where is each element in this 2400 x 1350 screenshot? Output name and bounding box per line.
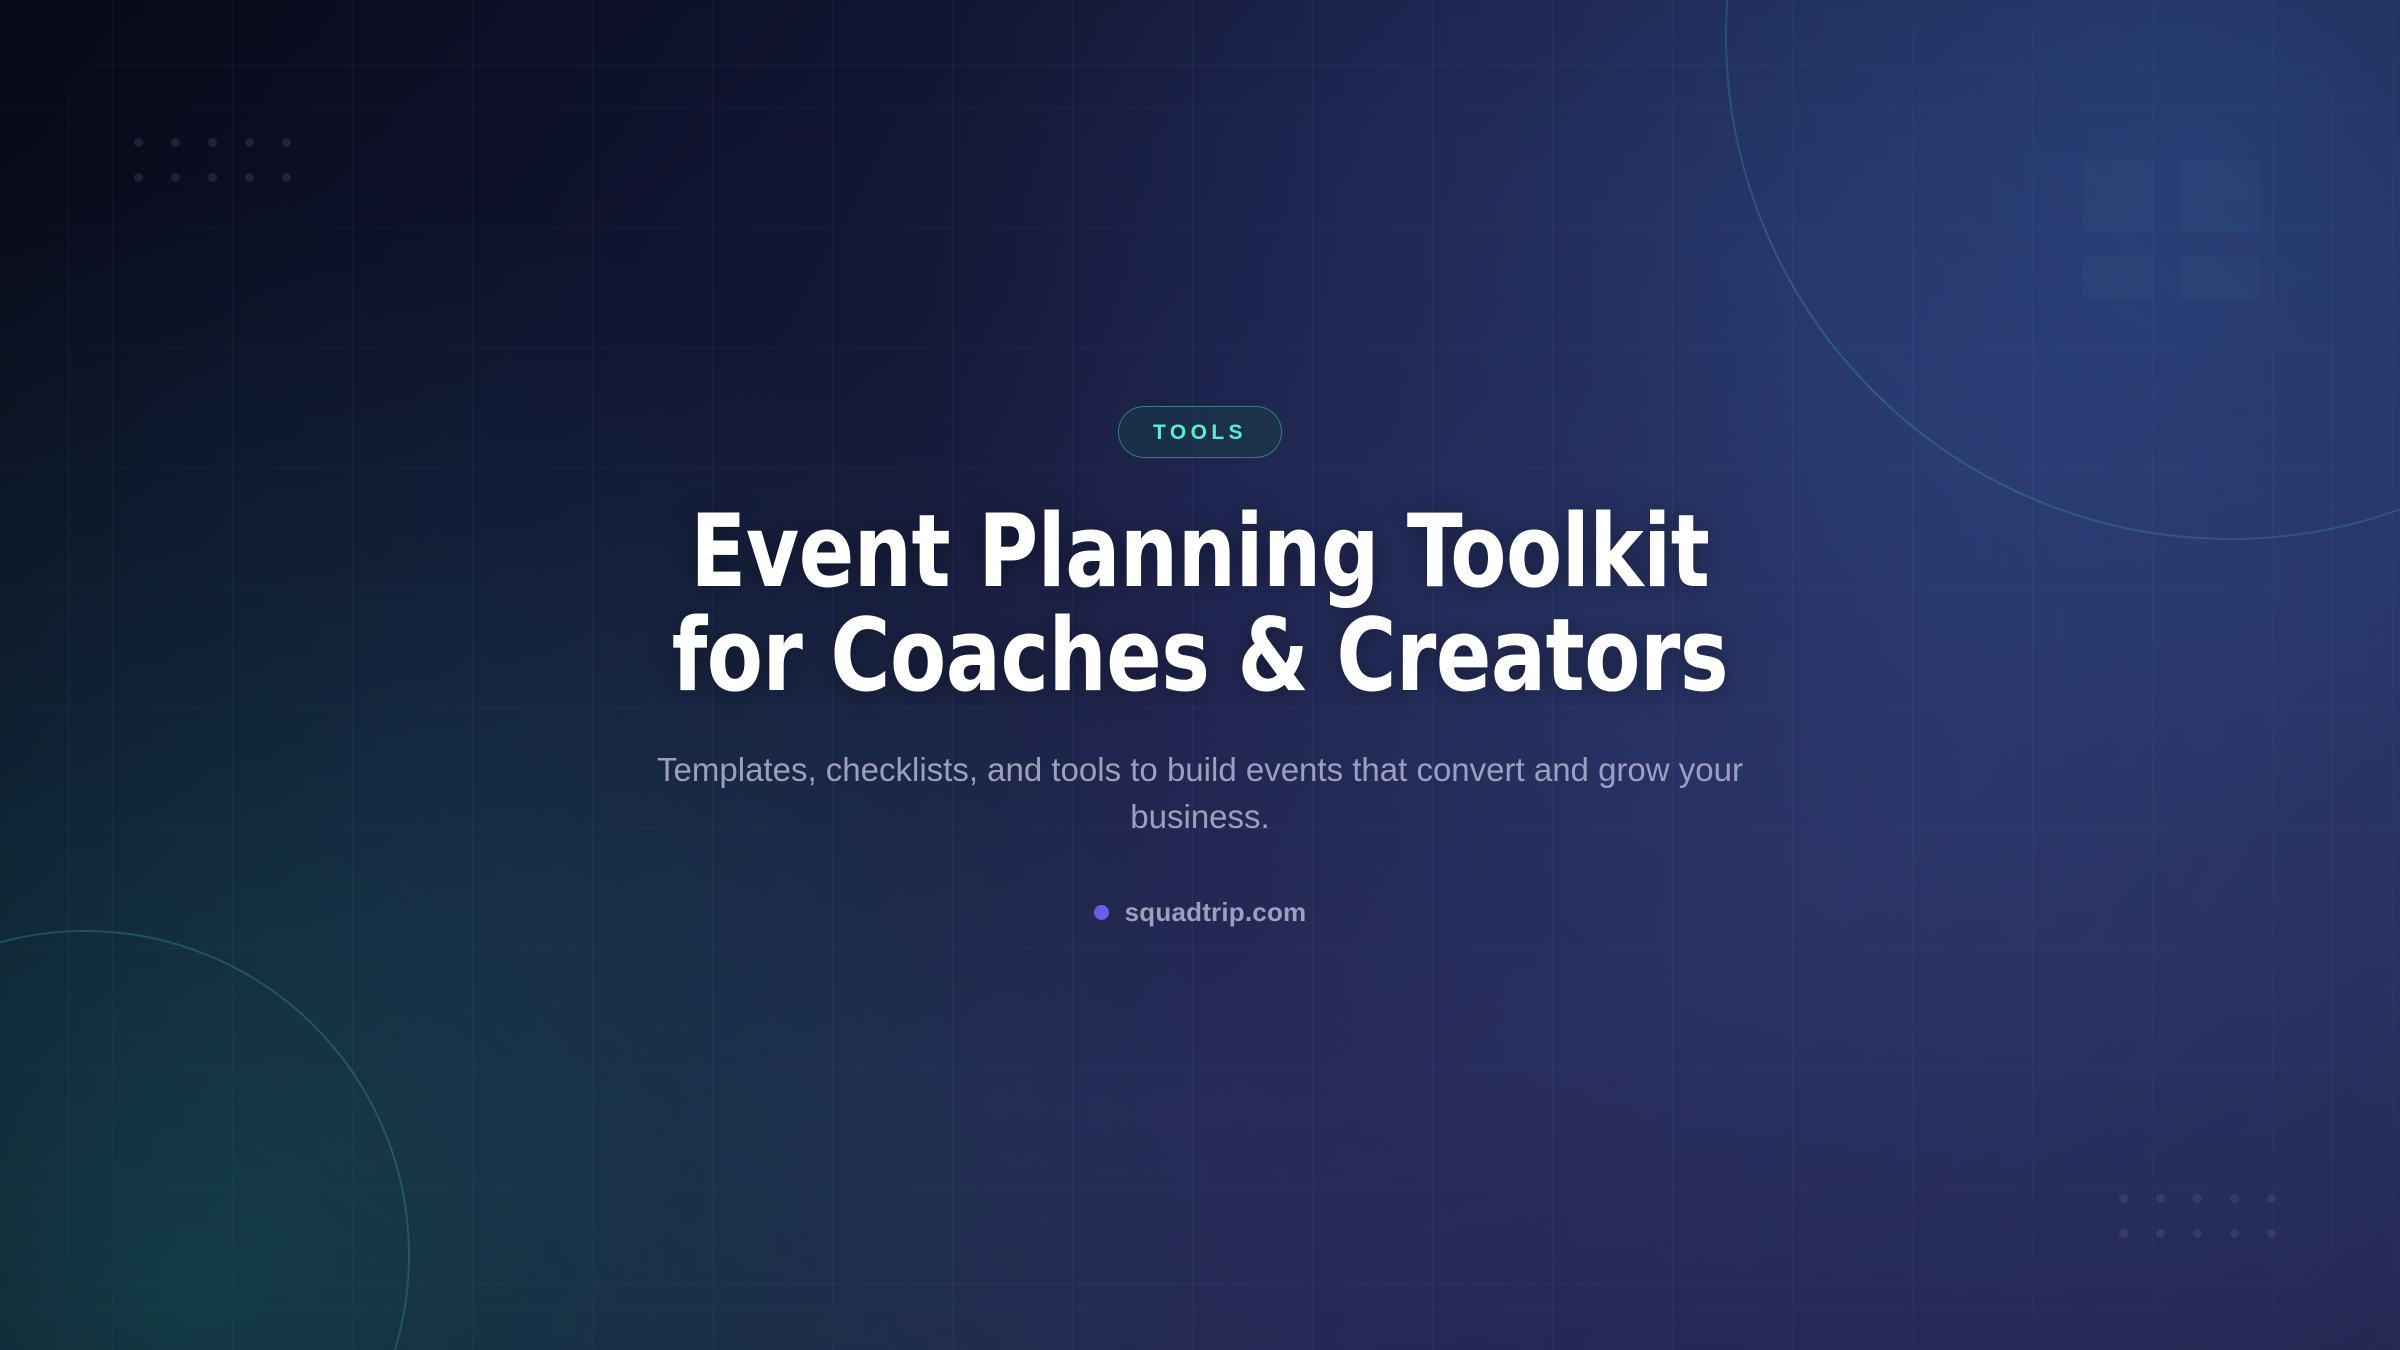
page-title-line-2: for Coaches & Creators: [672, 604, 1728, 708]
website-url[interactable]: squadtrip.com: [1094, 897, 1307, 928]
website-url-label: squadtrip.com: [1125, 897, 1307, 928]
page-subtitle: Templates, checklists, and tools to buil…: [655, 747, 1745, 841]
page-title-line-1: Event Planning Toolkit: [672, 500, 1728, 604]
page-title: Event Planning Toolkit for Coaches & Cre…: [672, 500, 1728, 707]
dot-icon: [1094, 905, 1109, 920]
hero-content: TOOLS Event Planning Toolkit for Coaches…: [0, 0, 2400, 1350]
hero-slide: TOOLS Event Planning Toolkit for Coaches…: [0, 0, 2400, 1350]
tools-badge: TOOLS: [1118, 406, 1282, 458]
